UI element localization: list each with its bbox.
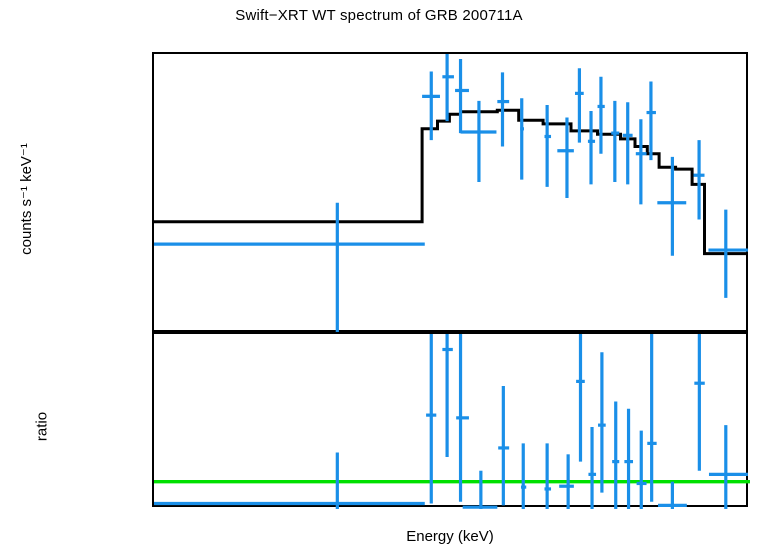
data-point	[624, 409, 633, 509]
data-point	[463, 471, 498, 509]
data-point	[544, 105, 551, 187]
data-point	[588, 427, 596, 509]
data-point	[576, 334, 585, 462]
data-point	[426, 334, 436, 504]
data-point	[612, 401, 619, 509]
data-point	[588, 111, 595, 184]
x-axis-label: Energy (keV)	[152, 528, 748, 545]
page-title: Swift−XRT WT spectrum of GRB 200711A	[0, 7, 758, 24]
data-point	[647, 334, 656, 502]
spectrum-plot-area	[154, 54, 746, 330]
data-point	[498, 386, 509, 505]
data-point	[520, 98, 524, 179]
data-point	[544, 443, 551, 509]
data-point	[456, 334, 469, 502]
data-point	[442, 54, 454, 121]
y-axis-label-top: counts s⁻¹ keV⁻¹	[17, 109, 35, 289]
data-point	[521, 443, 526, 509]
data-point	[623, 102, 633, 184]
data-point	[442, 334, 452, 457]
ratio-panel	[152, 332, 748, 507]
model-curve	[154, 110, 748, 253]
data-point	[637, 431, 647, 509]
data-point	[694, 334, 704, 471]
data-point	[455, 59, 469, 133]
data-point	[693, 140, 704, 219]
data-point	[657, 157, 686, 256]
data-point	[611, 101, 619, 182]
data-point	[598, 77, 605, 154]
y-axis-label-bottom: ratio	[34, 382, 51, 472]
data-point	[658, 482, 687, 509]
spectrum-panel	[152, 52, 748, 332]
data-point	[709, 425, 748, 509]
data-point	[598, 352, 606, 492]
ratio-plot-area	[154, 334, 746, 505]
spectrum-figure: Swift−XRT WT spectrum of GRB 200711A cou…	[0, 0, 758, 556]
data-point	[636, 119, 647, 204]
